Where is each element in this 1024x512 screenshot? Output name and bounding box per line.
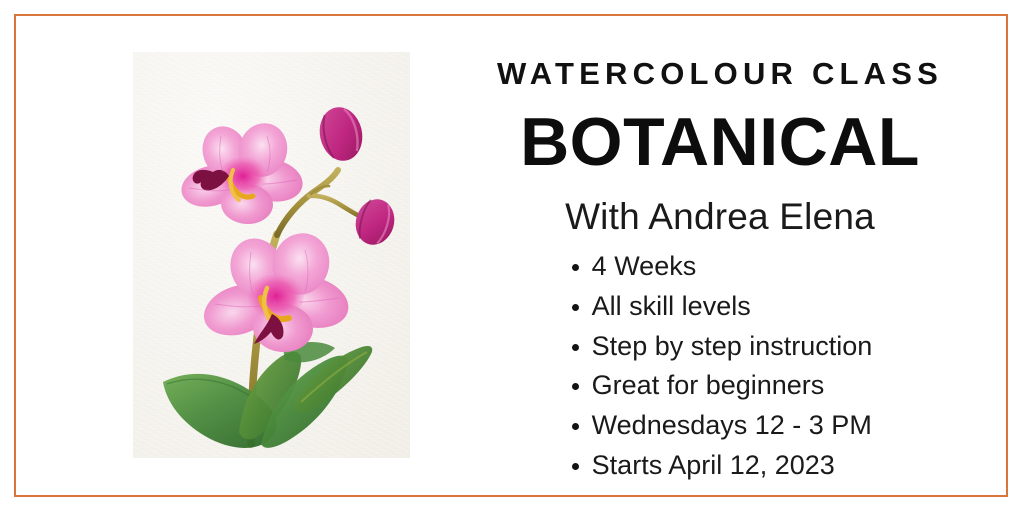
list-item: Great for beginners xyxy=(568,369,873,403)
artwork-panel xyxy=(133,52,410,458)
list-item: All skill levels xyxy=(568,290,873,324)
list-item: Starts April 12, 2023 xyxy=(568,449,873,483)
watercolour-class-poster: WATERCOLOUR CLASS BOTANICAL With Andrea … xyxy=(0,0,1024,512)
orchid-bloom-upper xyxy=(177,117,307,225)
class-details: 4 Weeks All skill levels Step by step in… xyxy=(460,250,980,489)
instructor-name: With Andrea Elena xyxy=(460,197,980,238)
orchid-buds xyxy=(315,103,400,249)
list-item: Wednesdays 12 - 3 PM xyxy=(568,409,873,443)
eyebrow-text: WATERCOLOUR CLASS xyxy=(460,58,980,89)
poster-text-column: WATERCOLOUR CLASS BOTANICAL With Andrea … xyxy=(460,52,980,458)
list-item: Step by step instruction xyxy=(568,330,873,364)
orchid-leaves xyxy=(163,342,372,448)
class-details-list: 4 Weeks All skill levels Step by step in… xyxy=(568,250,873,489)
orchid-illustration xyxy=(133,52,410,458)
list-item: 4 Weeks xyxy=(568,250,873,284)
page-title: BOTANICAL xyxy=(460,108,980,176)
